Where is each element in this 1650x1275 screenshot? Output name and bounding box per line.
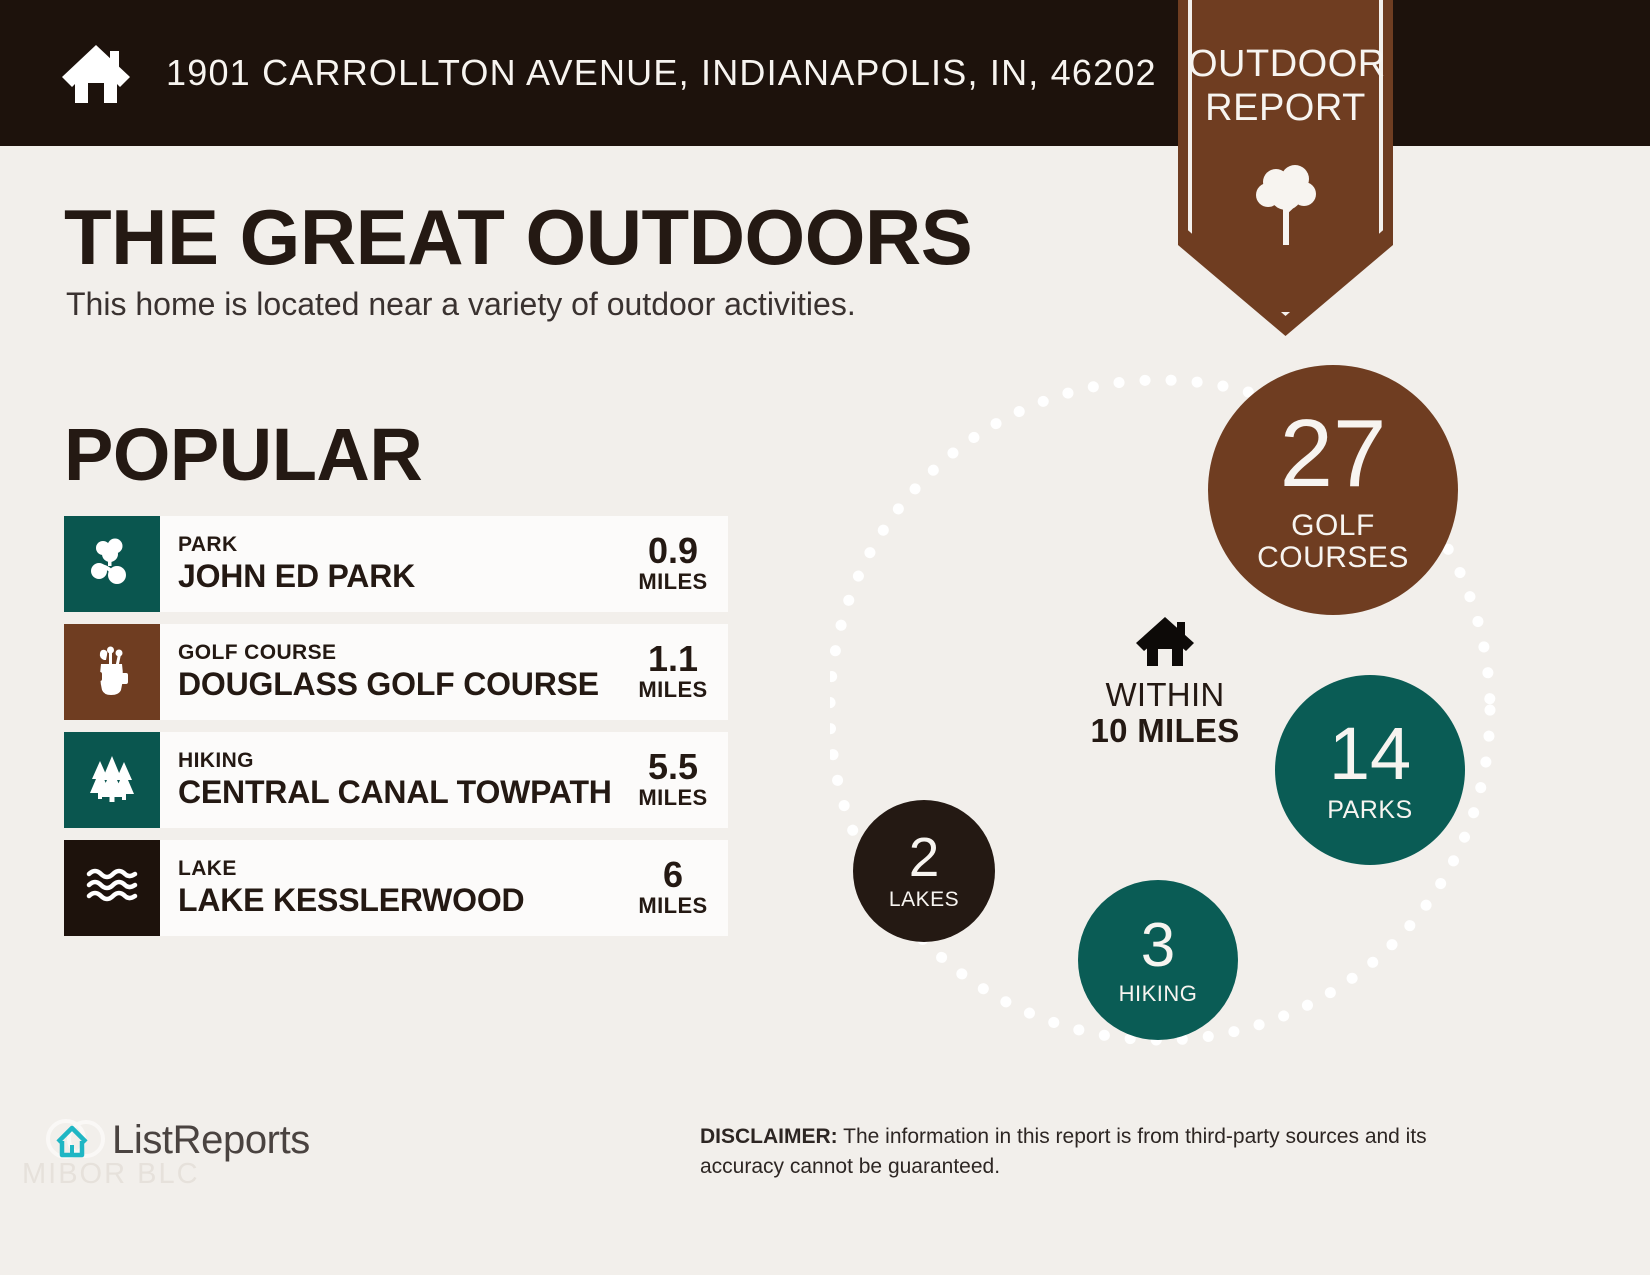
list-item-name: LAKE KESSLERWOOD [178,881,524,919]
list-item-category: GOLF COURSE [178,641,599,665]
golf-bag-icon [87,644,137,701]
bubble-label-line2: COURSES [1257,542,1409,574]
pine-trees-icon [86,753,138,808]
badge-title: OUTDOOR REPORT [1188,42,1383,130]
badge-title-line1: OUTDOOR [1188,42,1383,86]
nearby-amenities-diagram: 27 GOLF COURSES 14 PARKS 3 HIKING 2 LAKE… [830,355,1530,1070]
listreports-house-icon [46,1112,108,1168]
popular-section-heading: POPULAR [64,412,422,497]
bubble-label: GOLF COURSES [1257,510,1409,574]
bubble-label: HIKING [1119,982,1198,1005]
bubble-hiking[interactable]: 3 HIKING [1078,880,1238,1040]
home-icon [60,37,132,109]
list-item-name: DOUGLASS GOLF COURSE [178,665,599,703]
listreports-logo[interactable]: ListReports [46,1112,310,1168]
list-item-text: PARK JOHN ED PARK [178,533,415,595]
within-distance: 10 MILES [1055,713,1275,749]
page-subtitle: This home is located near a variety of o… [66,286,856,323]
waves-icon [86,866,138,911]
distance-unit: MILES [638,677,707,703]
bubble-count: 3 [1141,915,1175,977]
header-bar: 1901 CARROLLTON AVENUE, INDIANAPOLIS, IN… [0,0,1650,146]
list-item-category: LAKE [178,857,524,881]
list-item-text: LAKE LAKE KESSLERWOOD [178,857,524,919]
distance-unit: MILES [638,785,707,811]
listreports-wordmark: ListReports [112,1118,310,1163]
distance-value: 6 [663,857,683,893]
list-item-icon-tile [64,516,160,612]
outdoor-report-page: 1901 CARROLLTON AVENUE, INDIANAPOLIS, IN… [0,0,1650,1275]
list-item-distance: 5.5 MILES [632,749,714,811]
list-item-icon-tile [64,732,160,828]
badge-title-line2: REPORT [1188,86,1383,130]
distance-value: 0.9 [648,533,698,569]
list-item-distance: 6 MILES [632,857,714,919]
distance-unit: MILES [638,569,707,595]
diagram-center-label: WITHIN 10 MILES [1055,613,1275,749]
bubble-golf-courses[interactable]: 27 GOLF COURSES [1208,365,1458,615]
tree-icon [1254,160,1318,248]
list-item[interactable]: PARK JOHN ED PARK 0.9 MILES [64,516,728,612]
list-item-text: HIKING CENTRAL CANAL TOWPATH [178,749,612,811]
park-icon [87,537,137,592]
list-item-category: HIKING [178,749,612,773]
bubble-label: PARKS [1327,797,1412,824]
list-item-icon-tile [64,624,160,720]
list-item-distance: 1.1 MILES [632,641,714,703]
list-item[interactable]: GOLF COURSE DOUGLASS GOLF COURSE 1.1 MIL… [64,624,728,720]
list-item[interactable]: HIKING CENTRAL CANAL TOWPATH 5.5 MILES [64,732,728,828]
distance-value: 5.5 [648,749,698,785]
property-address: 1901 CARROLLTON AVENUE, INDIANAPOLIS, IN… [166,52,1157,94]
bubble-count: 2 [909,830,940,885]
distance-value: 1.1 [648,641,698,677]
list-item-distance: 0.9 MILES [632,533,714,595]
bubble-lakes[interactable]: 2 LAKES [853,800,995,942]
bubble-parks[interactable]: 14 PARKS [1275,675,1465,865]
bubble-count: 27 [1280,406,1387,502]
list-item-body: GOLF COURSE DOUGLASS GOLF COURSE 1.1 MIL… [160,624,728,720]
list-item-name: CENTRAL CANAL TOWPATH [178,773,612,811]
within-label: WITHIN [1055,677,1275,713]
bubble-label-line1: GOLF [1257,510,1409,542]
list-item-category: PARK [178,533,415,557]
popular-list: PARK JOHN ED PARK 0.9 MILES [64,516,728,948]
bubble-label: LAKES [889,889,959,911]
list-item-text: GOLF COURSE DOUGLASS GOLF COURSE [178,641,599,703]
list-item-icon-tile [64,840,160,936]
home-icon [1055,613,1275,669]
disclaimer: DISCLAIMER: The information in this repo… [700,1122,1510,1182]
list-item-body: LAKE LAKE KESSLERWOOD 6 MILES [160,840,728,936]
list-item-body: PARK JOHN ED PARK 0.9 MILES [160,516,728,612]
list-item-body: HIKING CENTRAL CANAL TOWPATH 5.5 MILES [160,732,728,828]
distance-unit: MILES [638,893,707,919]
disclaimer-label: DISCLAIMER: [700,1125,838,1148]
list-item[interactable]: LAKE LAKE KESSLERWOOD 6 MILES [64,840,728,936]
page-title: THE GREAT OUTDOORS [64,192,972,283]
bubble-count: 14 [1329,717,1411,791]
list-item-name: JOHN ED PARK [178,557,415,595]
